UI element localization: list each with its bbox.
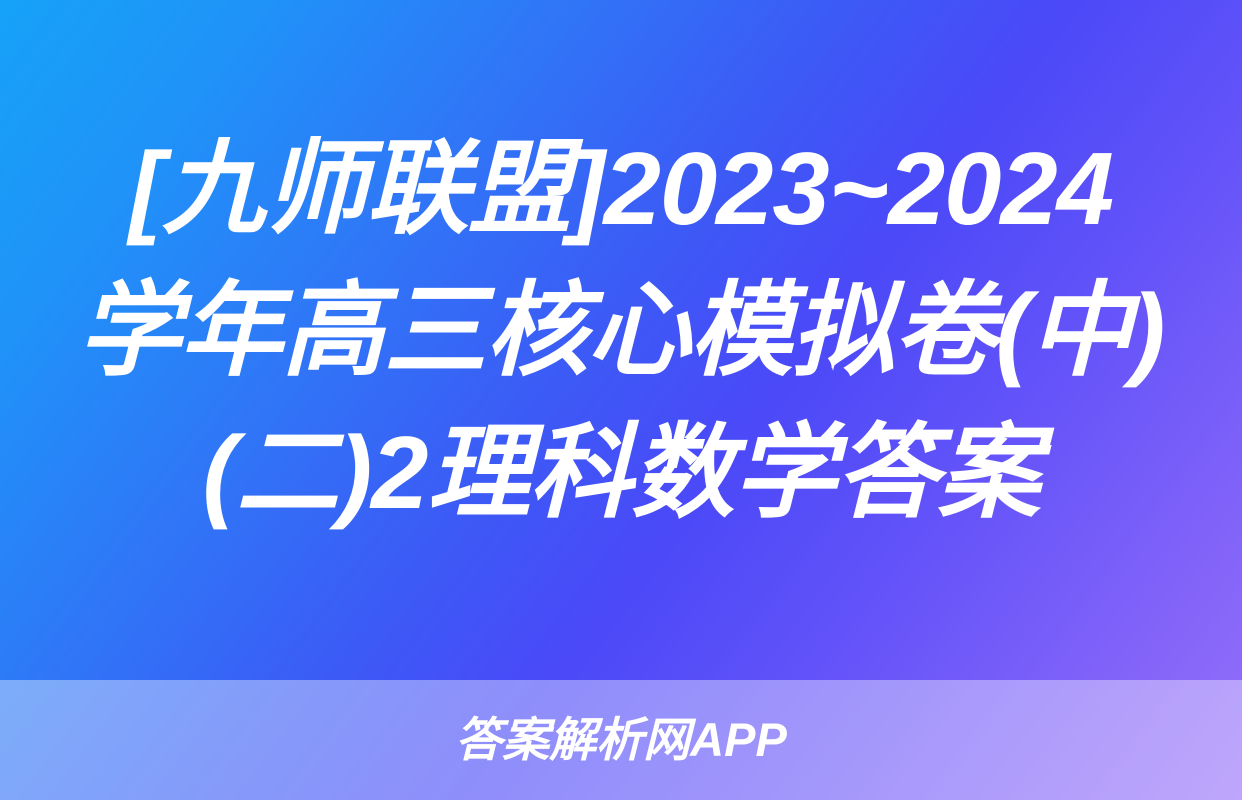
title-block: [九师联盟]2023~2024 学年高三核心模拟卷(中) (二)2理科数学答案 [0, 0, 1242, 680]
title-line-1: [九师联盟]2023~2024 [40, 118, 1202, 260]
title-line-3: (二)2理科数学答案 [40, 402, 1202, 544]
footer-watermark-band: 答案解析网APP [0, 680, 1242, 800]
title-line-2: 学年高三核心模拟卷(中) [40, 260, 1202, 402]
poster-canvas: [九师联盟]2023~2024 学年高三核心模拟卷(中) (二)2理科数学答案 … [0, 0, 1242, 800]
app-watermark-label: 答案解析网APP [455, 712, 787, 768]
